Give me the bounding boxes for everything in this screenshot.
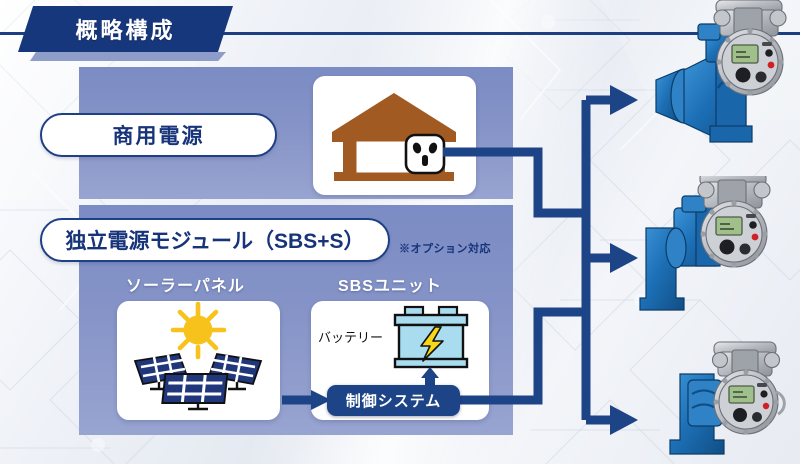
power-outlet-icon	[406, 135, 444, 173]
option-note: ※オプション対応	[399, 240, 491, 256]
sbs-unit-label: SBSユニット	[338, 272, 442, 296]
header-ribbon: 概略構成	[18, 6, 233, 52]
electric-actuator-3	[658, 330, 800, 464]
diagram-canvas: 概略構成	[0, 0, 800, 464]
page-title: 概略構成	[75, 13, 175, 45]
warehouse-icon	[313, 76, 476, 195]
electric-actuator-1	[654, 0, 800, 146]
solar-panel-icon	[117, 301, 280, 420]
commercial-power-label: 商用電源	[40, 113, 277, 157]
solar-panel-label: ソーラーパネル	[126, 272, 245, 296]
solar-card	[117, 301, 280, 420]
building-card	[313, 76, 476, 195]
battery-label: バッテリー	[318, 327, 383, 346]
ribbon-shadow	[30, 52, 226, 61]
control-system-box: 制御システム	[327, 385, 460, 416]
independent-module-label: 独立電源モジュール（SBS+S）	[40, 218, 390, 262]
electric-actuator-2	[638, 176, 788, 326]
